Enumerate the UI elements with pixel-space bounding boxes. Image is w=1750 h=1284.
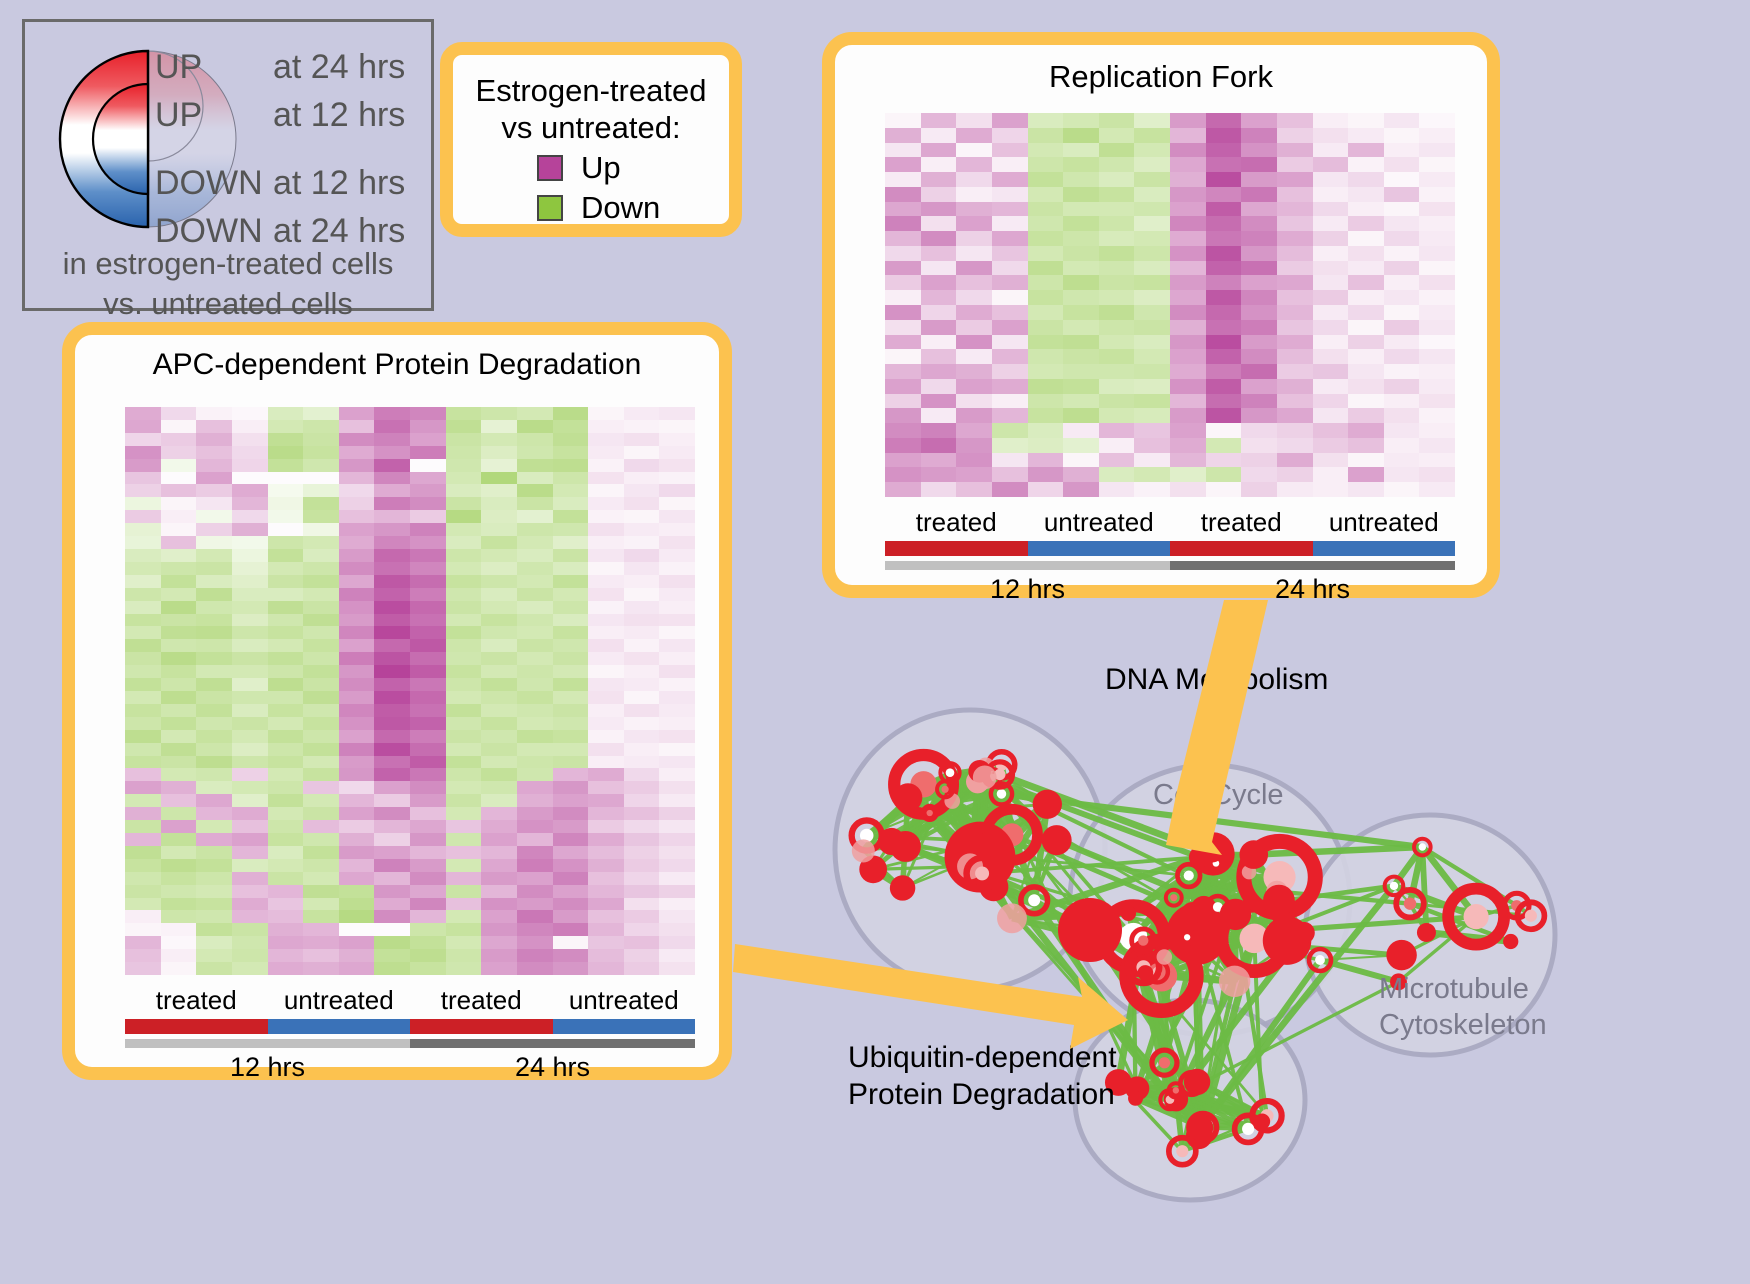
treatment-segment-treated xyxy=(125,1019,268,1034)
heatmap-cell xyxy=(1241,113,1277,128)
heatmap-cell xyxy=(588,807,624,820)
heatmap-cell xyxy=(992,187,1028,202)
heatmap-cell xyxy=(161,704,197,717)
heatmap-cell xyxy=(446,639,482,652)
heatmap-cell xyxy=(1241,275,1277,290)
heatmap-cell xyxy=(161,898,197,911)
heatmap-cell xyxy=(1313,128,1349,143)
heatmap-cell xyxy=(196,652,232,665)
heatmap-cell xyxy=(956,113,992,128)
heatmap-cell xyxy=(1313,379,1349,394)
heatmap-cell xyxy=(1134,467,1170,482)
heatmap-cell xyxy=(161,420,197,433)
key-spacer xyxy=(155,144,430,164)
heatmap-cell xyxy=(624,639,660,652)
heatmap-cell xyxy=(1170,187,1206,202)
heatmap-cell xyxy=(268,472,304,485)
heatmap-cell xyxy=(161,510,197,523)
heatmap-cell xyxy=(956,349,992,364)
heatmap-cell xyxy=(1170,113,1206,128)
heatmap-cell xyxy=(374,433,410,446)
heatmap-cell xyxy=(1170,172,1206,187)
heatmap-cell xyxy=(268,652,304,665)
cluster-label-ubiquitin-degradation: Ubiquitin-dependent Protein Degradation xyxy=(848,1040,1117,1113)
heatmap-cell xyxy=(921,187,957,202)
heatmap-cell xyxy=(268,639,304,652)
heatmap-cell xyxy=(553,484,589,497)
network-node xyxy=(1137,965,1153,981)
heatmap-cell xyxy=(374,743,410,756)
heatmap-cell xyxy=(410,626,446,639)
heatmap-cell xyxy=(1170,143,1206,158)
heatmap-cell xyxy=(1348,172,1384,187)
heatmap-cell xyxy=(232,626,268,639)
heatmap-cell xyxy=(303,768,339,781)
heatmap-cell xyxy=(553,665,589,678)
heatmap-cell xyxy=(374,768,410,781)
heatmap-cell xyxy=(303,807,339,820)
heatmap-cell xyxy=(410,652,446,665)
heatmap-cell xyxy=(1099,216,1135,231)
heatmap-cell xyxy=(956,172,992,187)
heatmap-cell xyxy=(410,588,446,601)
heatmap-cell xyxy=(1063,290,1099,305)
heatmap-cell xyxy=(303,781,339,794)
heatmap-cell xyxy=(446,575,482,588)
heatmap-cell xyxy=(1099,423,1135,438)
heatmap-cell xyxy=(410,820,446,833)
heatmap-cell xyxy=(196,472,232,485)
heatmap-cell xyxy=(992,261,1028,276)
color-key-footer: in estrogen-treated cells vs. untreated … xyxy=(25,244,431,323)
heatmap-cell xyxy=(553,562,589,575)
heatmap-cell xyxy=(517,704,553,717)
heatmap-cell xyxy=(1170,157,1206,172)
heatmap-cell xyxy=(1419,246,1455,261)
heatmap-cell xyxy=(446,472,482,485)
heatmap-cell xyxy=(339,717,375,730)
heatmap-cell xyxy=(624,807,660,820)
heatmap-cell xyxy=(161,665,197,678)
heatmap-cell xyxy=(1419,128,1455,143)
heatmap-cell xyxy=(1277,113,1313,128)
replication-fork-panel: Replication Fork treated untreated treat… xyxy=(822,32,1500,598)
heatmap-cell xyxy=(339,523,375,536)
heatmap-cell xyxy=(339,794,375,807)
heatmap-cell xyxy=(161,730,197,743)
heatmap-cell xyxy=(125,575,161,588)
heatmap-cell xyxy=(196,730,232,743)
heatmap-cell xyxy=(268,536,304,549)
heatmap-cell xyxy=(410,562,446,575)
heatmap-cell xyxy=(410,859,446,872)
heatmap-cell xyxy=(374,575,410,588)
network-node xyxy=(1263,885,1295,917)
heatmap-cell xyxy=(1241,394,1277,409)
heatmap-cell xyxy=(339,923,375,936)
heatmap-cell xyxy=(1028,305,1064,320)
heatmap-cell xyxy=(1170,231,1206,246)
heatmap-cell xyxy=(161,756,197,769)
heatmap-cell xyxy=(956,216,992,231)
heatmap-cell xyxy=(956,143,992,158)
heatmap-cell xyxy=(481,562,517,575)
heatmap-cell xyxy=(885,349,921,364)
key-time: at 24 hrs xyxy=(273,48,405,87)
heatmap-cell xyxy=(1277,172,1313,187)
heatmap-cell xyxy=(659,420,695,433)
heatmap-cell xyxy=(1241,290,1277,305)
heatmap-cell xyxy=(1028,216,1064,231)
heatmap-cell xyxy=(885,128,921,143)
heatmap-cell xyxy=(553,846,589,859)
heatmap-cell xyxy=(1384,275,1420,290)
heatmap-cell xyxy=(921,335,957,350)
heatmap-cell xyxy=(374,936,410,949)
heatmap-cell xyxy=(1028,202,1064,217)
heatmap-cell xyxy=(517,756,553,769)
heatmap-cell xyxy=(303,484,339,497)
heatmap-cell xyxy=(1277,157,1313,172)
heatmap-cell xyxy=(1419,379,1455,394)
time-label: 12 hrs xyxy=(125,1052,410,1083)
heatmap-cell xyxy=(446,730,482,743)
heatmap-cell xyxy=(303,549,339,562)
heatmap-cell xyxy=(161,459,197,472)
heatmap-cell xyxy=(339,459,375,472)
heatmap-cell xyxy=(1419,261,1455,276)
heatmap-cell xyxy=(659,639,695,652)
replication-fork-title: Replication Fork xyxy=(835,59,1487,95)
heatmap-cell xyxy=(196,872,232,885)
heatmap-cell xyxy=(125,820,161,833)
heatmap-cell xyxy=(624,794,660,807)
heatmap-cell xyxy=(125,420,161,433)
heatmap-cell xyxy=(196,626,232,639)
heatmap-cell xyxy=(1419,305,1455,320)
heatmap-cell xyxy=(232,407,268,420)
network-node xyxy=(1219,966,1250,997)
heatmap-cell xyxy=(992,216,1028,231)
heatmap-cell xyxy=(374,652,410,665)
heatmap-cell xyxy=(1277,275,1313,290)
heatmap-cell xyxy=(1099,275,1135,290)
network-node-core xyxy=(1419,843,1426,850)
heatmap-cell xyxy=(481,484,517,497)
heatmap-cell xyxy=(1206,453,1242,468)
heatmap-cell xyxy=(268,859,304,872)
heatmap-cell xyxy=(125,678,161,691)
heatmap-cell xyxy=(517,459,553,472)
heatmap-cell xyxy=(1206,202,1242,217)
network-node-core xyxy=(1159,1057,1170,1068)
heatmap-cell xyxy=(339,588,375,601)
heatmap-cell xyxy=(1134,290,1170,305)
heatmap-cell xyxy=(161,833,197,846)
heatmap-cell xyxy=(1099,113,1135,128)
heatmap-cell xyxy=(1063,394,1099,409)
heatmap-cell xyxy=(1028,438,1064,453)
heatmap-cell xyxy=(446,497,482,510)
treatment-segment-untreated xyxy=(1028,541,1171,556)
heatmap-cell xyxy=(232,704,268,717)
heatmap-cell xyxy=(1028,143,1064,158)
heatmap-cell xyxy=(659,962,695,975)
legend-entry-down: Down xyxy=(453,190,729,226)
time-label: 24 hrs xyxy=(410,1052,695,1083)
heatmap-cell xyxy=(374,484,410,497)
heatmap-cell xyxy=(374,717,410,730)
heatmap-cell xyxy=(956,305,992,320)
heatmap-cell xyxy=(374,833,410,846)
heatmap-cell xyxy=(410,665,446,678)
heatmap-cell xyxy=(1384,231,1420,246)
group-label: untreated xyxy=(268,985,411,1016)
heatmap-cell xyxy=(1419,202,1455,217)
heatmap-cell xyxy=(196,433,232,446)
heatmap-cell xyxy=(303,872,339,885)
network-node-core xyxy=(997,789,1007,799)
heatmap-cell xyxy=(161,639,197,652)
heatmap-cell xyxy=(410,459,446,472)
heatmap-cell xyxy=(268,691,304,704)
heatmap-cell xyxy=(410,756,446,769)
heatmap-cell xyxy=(1277,467,1313,482)
heatmap-cell xyxy=(1063,202,1099,217)
heatmap-cell xyxy=(624,420,660,433)
heatmap-cell xyxy=(232,846,268,859)
group-labels: treated untreated treated untreated xyxy=(125,985,695,1016)
heatmap-cell xyxy=(1099,408,1135,423)
heatmap-cell xyxy=(446,523,482,536)
heatmap-cell xyxy=(1419,143,1455,158)
heatmap-cell xyxy=(1099,482,1135,497)
heatmap-cell xyxy=(1419,349,1455,364)
heatmap-cell xyxy=(1028,408,1064,423)
heatmap-cell xyxy=(161,497,197,510)
heatmap-cell xyxy=(410,614,446,627)
heatmap-cell xyxy=(268,730,304,743)
heatmap-cell xyxy=(1348,394,1384,409)
key-row-up-12: UP at 12 hrs xyxy=(155,96,430,144)
heatmap-cell xyxy=(1028,349,1064,364)
heatmap-cell xyxy=(1134,453,1170,468)
heatmap-cell xyxy=(588,678,624,691)
heatmap-cell xyxy=(196,562,232,575)
heatmap-cell xyxy=(339,704,375,717)
heatmap-cell xyxy=(196,639,232,652)
heatmap-cell xyxy=(588,407,624,420)
heatmap-cell xyxy=(196,575,232,588)
heatmap-cell xyxy=(481,898,517,911)
heatmap-cell xyxy=(125,962,161,975)
heatmap-cell xyxy=(517,549,553,562)
heatmap-cell xyxy=(303,846,339,859)
heatmap-cell xyxy=(1028,320,1064,335)
heatmap-cell xyxy=(339,407,375,420)
heatmap-cell xyxy=(1313,305,1349,320)
heatmap-cell xyxy=(921,275,957,290)
network-node xyxy=(1121,906,1136,921)
heatmap-cell xyxy=(232,497,268,510)
heatmap-cell xyxy=(125,510,161,523)
heatmap-cell xyxy=(410,885,446,898)
heatmap-cell xyxy=(885,216,921,231)
heatmap-cell xyxy=(1134,379,1170,394)
heatmap-cell xyxy=(446,510,482,523)
heatmap-cell xyxy=(374,614,410,627)
heatmap-cell xyxy=(517,420,553,433)
heatmap-cell xyxy=(232,910,268,923)
heatmap-cell xyxy=(410,872,446,885)
heatmap-cell xyxy=(161,923,197,936)
heatmap-cell xyxy=(1063,438,1099,453)
heatmap-cell xyxy=(1099,394,1135,409)
heatmap-cell xyxy=(339,665,375,678)
heatmap-cell xyxy=(232,717,268,730)
heatmap-cell xyxy=(1277,349,1313,364)
heatmap-cell xyxy=(303,730,339,743)
heatmap-cell xyxy=(410,936,446,949)
heatmap-cell xyxy=(410,433,446,446)
heatmap-cell xyxy=(303,407,339,420)
heatmap-cell xyxy=(624,923,660,936)
heatmap-cell xyxy=(1134,320,1170,335)
heatmap-cell xyxy=(196,910,232,923)
color-key-box: UP at 24 hrs UP at 12 hrs DOWN at 12 hrs… xyxy=(22,19,434,311)
heatmap-cell xyxy=(268,562,304,575)
heatmap-cell xyxy=(1063,320,1099,335)
heatmap-cell xyxy=(374,446,410,459)
heatmap-cell xyxy=(1384,261,1420,276)
heatmap-cell xyxy=(161,614,197,627)
heatmap-cell xyxy=(1313,408,1349,423)
heatmap-cell xyxy=(992,423,1028,438)
heatmap-cell xyxy=(1170,423,1206,438)
heatmap-cell xyxy=(125,536,161,549)
heatmap-cell xyxy=(268,743,304,756)
heatmap-cell xyxy=(196,523,232,536)
heatmap-cell xyxy=(956,187,992,202)
heatmap-cell xyxy=(339,433,375,446)
heatmap-cell xyxy=(992,320,1028,335)
heatmap-cell xyxy=(956,364,992,379)
heatmap-cell xyxy=(956,423,992,438)
heatmap-cell xyxy=(1241,423,1277,438)
heatmap-cell xyxy=(624,549,660,562)
heatmap-cell xyxy=(374,859,410,872)
heatmap-cell xyxy=(481,949,517,962)
heatmap-cell xyxy=(885,438,921,453)
heatmap-cell xyxy=(303,588,339,601)
heatmap-cell xyxy=(125,433,161,446)
heatmap-cell xyxy=(268,794,304,807)
heatmap-cell xyxy=(268,820,304,833)
heatmap-cell xyxy=(588,962,624,975)
heatmap-cell xyxy=(1063,187,1099,202)
heatmap-cell xyxy=(410,639,446,652)
heatmap-cell xyxy=(374,885,410,898)
heatmap-cell xyxy=(481,523,517,536)
heatmap-cell xyxy=(303,833,339,846)
heatmap-cell xyxy=(446,962,482,975)
heatmap-cell xyxy=(553,575,589,588)
heatmap-cell xyxy=(481,717,517,730)
heatmap-cell xyxy=(232,781,268,794)
network-node xyxy=(890,875,915,900)
heatmap-cell xyxy=(1313,216,1349,231)
heatmap-cell xyxy=(125,562,161,575)
heatmap-cell xyxy=(1206,275,1242,290)
heatmap-cell xyxy=(1170,290,1206,305)
heatmap-cell xyxy=(517,510,553,523)
network-node-core xyxy=(1170,894,1177,901)
heatmap-cell xyxy=(992,305,1028,320)
heatmap-cell xyxy=(303,601,339,614)
heatmap-cell xyxy=(374,407,410,420)
heatmap-cell xyxy=(268,898,304,911)
heatmap-cell xyxy=(553,678,589,691)
heatmap-cell xyxy=(374,497,410,510)
heatmap-cell xyxy=(196,820,232,833)
heatmap-cell xyxy=(659,936,695,949)
heatmap-cell xyxy=(481,833,517,846)
heatmap-cell xyxy=(956,261,992,276)
heatmap-cell xyxy=(1241,231,1277,246)
heatmap-cell xyxy=(1313,261,1349,276)
heatmap-cell xyxy=(303,497,339,510)
time-labels: 12 hrs 24 hrs xyxy=(125,1052,695,1083)
heatmap-cell xyxy=(125,665,161,678)
heatmap-cell xyxy=(1277,423,1313,438)
heatmap-cell xyxy=(588,446,624,459)
heatmap-cell xyxy=(517,614,553,627)
heatmap-cell xyxy=(1241,157,1277,172)
heatmap-cell xyxy=(303,923,339,936)
heatmap-cell xyxy=(161,820,197,833)
heatmap-cell xyxy=(1206,394,1242,409)
heatmap-cell xyxy=(232,459,268,472)
heatmap-cell xyxy=(446,704,482,717)
heatmap-cell xyxy=(885,157,921,172)
heatmap-cell xyxy=(921,320,957,335)
heatmap-cell xyxy=(161,768,197,781)
heatmap-cell xyxy=(374,949,410,962)
heatmap-cell xyxy=(624,665,660,678)
group-label: untreated xyxy=(1028,507,1171,538)
heatmap-cell xyxy=(1277,290,1313,305)
heatmap-cell xyxy=(588,497,624,510)
heatmap-cell xyxy=(303,626,339,639)
apc-degradation-panel: APC-dependent Protein Degradation treate… xyxy=(62,322,732,1080)
heatmap-cell xyxy=(481,407,517,420)
heatmap-cell xyxy=(303,691,339,704)
network-node xyxy=(997,903,1027,933)
heatmap-cell xyxy=(268,756,304,769)
heatmap-cell xyxy=(553,872,589,885)
heatmap-cell xyxy=(659,459,695,472)
key-direction: UP xyxy=(155,96,273,135)
heatmap-cell xyxy=(1241,143,1277,158)
heatmap-cell xyxy=(1099,305,1135,320)
heatmap-cell xyxy=(1241,187,1277,202)
heatmap-cell xyxy=(1099,453,1135,468)
heatmap-cell xyxy=(125,910,161,923)
key-row-up-24: UP at 24 hrs xyxy=(155,48,430,96)
heatmap-cell xyxy=(268,407,304,420)
heatmap-cell xyxy=(624,949,660,962)
treatment-color-bar xyxy=(885,541,1455,556)
